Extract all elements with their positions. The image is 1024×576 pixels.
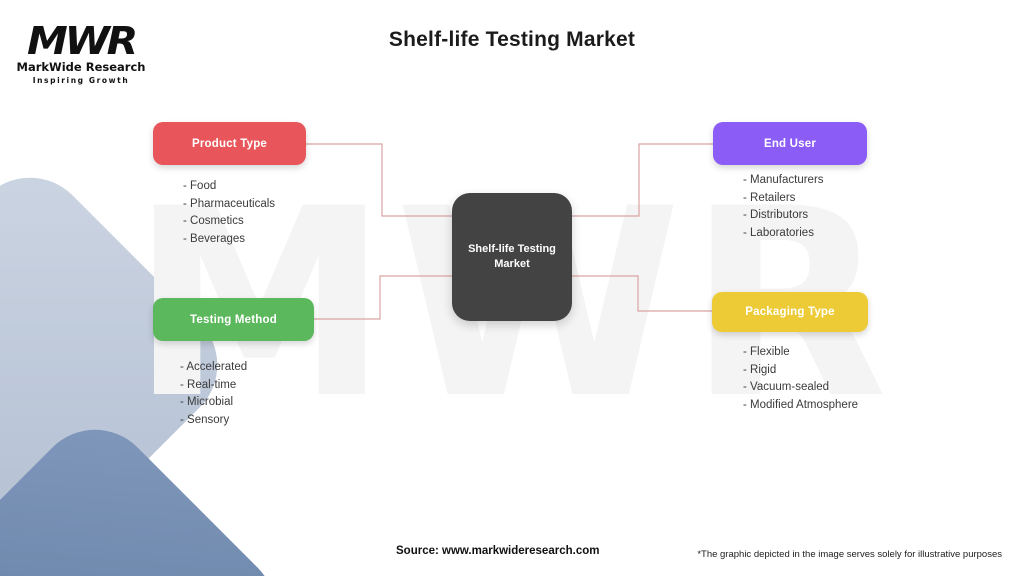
list-testing-method: - Accelerated - Real-time - Microbial - … xyxy=(180,359,247,429)
list-item: - Modified Atmosphere xyxy=(743,397,858,415)
disclaimer-text: *The graphic depicted in the image serve… xyxy=(697,549,1002,560)
connector-product-type xyxy=(306,144,452,216)
list-item: - Manufacturers xyxy=(743,172,824,190)
list-item: - Flexible xyxy=(743,344,858,362)
list-item: - Real-time xyxy=(180,377,247,395)
page-title: Shelf-life Testing Market xyxy=(0,28,1024,52)
node-center-market[interactable]: Shelf-life Testing Market xyxy=(452,193,572,321)
list-item: - Distributors xyxy=(743,207,824,225)
infographic-canvas: MWR MWR MarkWide Research Inspiring Grow… xyxy=(0,0,1024,576)
list-item: - Laboratories xyxy=(743,225,824,243)
list-item: - Beverages xyxy=(183,231,275,249)
list-item: - Rigid xyxy=(743,362,858,380)
connector-packaging-type xyxy=(572,276,712,311)
list-item: - Vacuum-sealed xyxy=(743,379,858,397)
decorative-shape-dark xyxy=(0,405,300,576)
node-end-user[interactable]: End User xyxy=(713,122,867,165)
list-item: - Sensory xyxy=(180,412,247,430)
node-packaging-type[interactable]: Packaging Type xyxy=(712,292,868,332)
list-end-user: - Manufacturers - Retailers - Distributo… xyxy=(743,172,824,242)
node-testing-method[interactable]: Testing Method xyxy=(153,298,314,341)
node-product-type[interactable]: Product Type xyxy=(153,122,306,165)
list-item: - Pharmaceuticals xyxy=(183,196,275,214)
logo-tagline: Inspiring Growth xyxy=(16,75,146,87)
list-packaging-type: - Flexible - Rigid - Vacuum-sealed - Mod… xyxy=(743,344,858,414)
center-label-line2: Market xyxy=(494,258,529,270)
source-text: Source: www.markwideresearch.com xyxy=(396,545,599,557)
center-label-line1: Shelf-life Testing xyxy=(468,243,556,255)
list-item: - Food xyxy=(183,178,275,196)
list-item: - Accelerated xyxy=(180,359,247,377)
list-item: - Microbial xyxy=(180,394,247,412)
list-item: - Cosmetics xyxy=(183,213,275,231)
list-item: - Retailers xyxy=(743,190,824,208)
connector-testing-method xyxy=(314,276,452,319)
list-product-type: - Food - Pharmaceuticals - Cosmetics - B… xyxy=(183,178,275,248)
connector-end-user xyxy=(572,144,713,216)
